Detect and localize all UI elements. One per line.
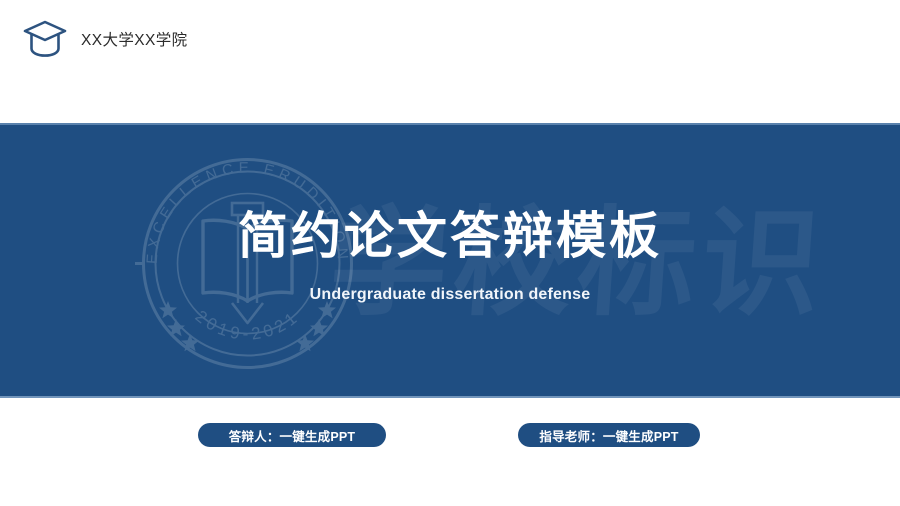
graduation-cap-icon — [22, 18, 68, 60]
hero-banner: EXCELLENCE ERUDITION 2019-2021 学校标识 简约论文… — [0, 123, 900, 398]
page-header: XX大学XX学院 — [0, 0, 900, 123]
presenter-button[interactable]: 答辩人：一键生成PPT — [198, 423, 386, 447]
school-brand: XX大学XX学院 — [22, 18, 188, 60]
school-name-label: XX大学XX学院 — [81, 28, 188, 50]
page-subtitle: Undergraduate dissertation defense — [310, 286, 591, 304]
page-title: 简约论文答辩模板 — [238, 208, 662, 264]
advisor-button[interactable]: 指导老师：一键生成PPT — [518, 423, 700, 447]
hero-text-block: 简约论文答辩模板 Undergraduate dissertation defe… — [0, 123, 900, 398]
page-footer: 答辩人：一键生成PPT 指导老师：一键生成PPT — [0, 398, 900, 506]
